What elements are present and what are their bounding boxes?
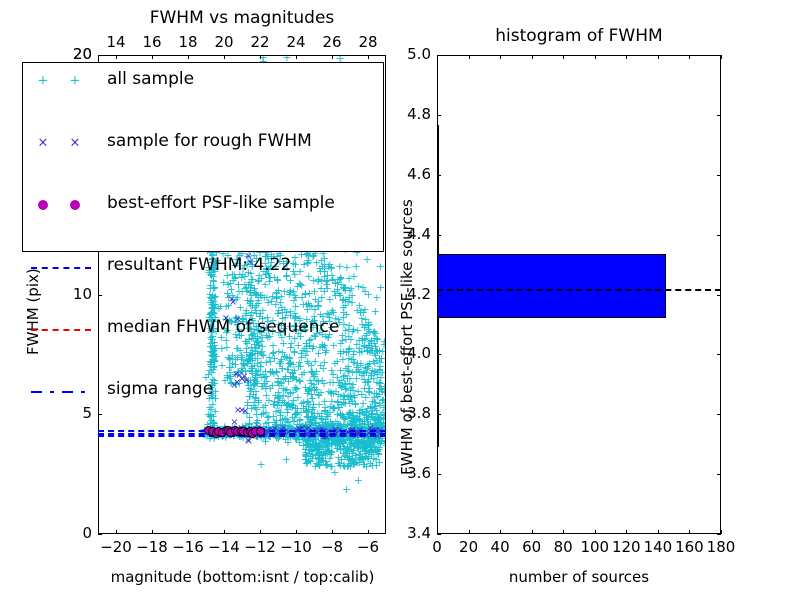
blue-dashdot-line-icon	[81, 391, 85, 393]
right-xtick-top	[595, 55, 596, 59]
left-xticklabel-top: 18	[172, 35, 204, 50]
right-xtick	[563, 530, 564, 534]
right-xticklabel: 140	[642, 540, 674, 555]
left-xtick-top	[116, 55, 117, 59]
left-xtick-bottom	[260, 530, 261, 534]
left-yticklabel: 10	[56, 287, 92, 302]
right-xtick	[721, 530, 722, 534]
left-xticklabel-bottom: −18	[136, 540, 168, 555]
left-ytick	[98, 55, 102, 56]
right-xtick-top	[532, 55, 533, 59]
right-ytick	[437, 235, 441, 236]
histogram-median-line	[437, 289, 721, 291]
right-xtick	[595, 530, 596, 534]
plus-marker-icon: +	[38, 74, 49, 87]
legend-label-4: median FHWM of sequence	[107, 317, 339, 337]
left-xtick-top	[152, 55, 153, 59]
right-xticklabel: 100	[579, 540, 611, 555]
legend: ++all sample××sample for rough FWHMbest-…	[22, 62, 384, 252]
plus-marker-icon: +	[70, 74, 81, 87]
legend-item-2[interactable]: best-effort PSF-like sample	[23, 189, 383, 220]
left-xtick-top	[188, 55, 189, 59]
right-xticklabel: 60	[516, 540, 548, 555]
right-ytick-right	[717, 55, 721, 56]
left-xtick-bottom	[188, 530, 189, 534]
left-xtick-bottom	[224, 530, 225, 534]
left-xtick-bottom	[368, 530, 369, 534]
legend-label-5: sigma range	[107, 379, 213, 399]
left-xtick-top	[296, 55, 297, 59]
legend-handle-plus: ++	[23, 65, 99, 96]
left-yticklabel: 5	[56, 406, 92, 421]
right-xtick-top	[500, 55, 501, 59]
left-xticklabel-top: 20	[208, 35, 240, 50]
legend-item-1[interactable]: ××sample for rough FWHM	[23, 127, 383, 158]
left-xticklabel-bottom: −14	[208, 540, 240, 555]
right-xticklabel: 0	[421, 540, 453, 555]
blue-dashed-line-icon	[31, 267, 91, 269]
left-xtick-top	[368, 55, 369, 59]
right-yticklabel: 4.0	[393, 346, 431, 361]
left-plot-title: FWHM vs magnitudes	[98, 8, 386, 28]
right-xtick	[500, 530, 501, 534]
legend-item-0[interactable]: ++all sample	[23, 65, 383, 96]
right-xtick-top	[626, 55, 627, 59]
right-ytick	[437, 354, 441, 355]
right-xtick-top	[469, 55, 470, 59]
right-xtick-top	[563, 55, 564, 59]
left-xticklabel-bottom: −6	[352, 540, 384, 555]
legend-item-3[interactable]: resultant FWHM: 4.22	[23, 251, 383, 282]
right-xticklabel: 180	[705, 540, 737, 555]
legend-label-3: resultant FWHM: 4.22	[107, 255, 291, 275]
left-xticklabel-bottom: −20	[100, 540, 132, 555]
left-xtick-bottom	[152, 530, 153, 534]
legend-label-1: sample for rough FWHM	[107, 131, 312, 151]
circle-marker-icon	[38, 200, 48, 210]
left-xtick-top	[260, 55, 261, 59]
right-ytick	[437, 534, 441, 535]
right-ytick-right	[717, 474, 721, 475]
figure-canvas: ++++++++++++++++++++++++++++++++++++++++…	[0, 0, 800, 600]
left-xticklabel-top: 24	[280, 35, 312, 50]
right-xticklabel: 40	[484, 540, 516, 555]
right-xtick	[658, 530, 659, 534]
left-xaxis-label: magnitude (bottom:isnt / top:calib)	[60, 568, 425, 586]
right-xticklabel: 80	[547, 540, 579, 555]
right-ytick-right	[717, 534, 721, 535]
right-xticklabel: 120	[610, 540, 642, 555]
right-xtick	[469, 530, 470, 534]
left-xtick-bottom	[332, 530, 333, 534]
right-ytick-right	[717, 414, 721, 415]
right-xtick-top	[658, 55, 659, 59]
right-ytick-right	[717, 115, 721, 116]
legend-label-0: all sample	[107, 69, 194, 89]
left-xticklabel-top: 14	[100, 35, 132, 50]
left-xticklabel-top: 28	[352, 35, 384, 50]
right-ytick	[437, 295, 441, 296]
right-axes-histogram	[437, 55, 721, 534]
legend-handle-blue-dash	[23, 251, 99, 282]
left-ytick	[98, 414, 102, 415]
blue-dashdot-line-icon	[31, 391, 42, 393]
right-ytick-right	[717, 354, 721, 355]
legend-handle-red-dash	[23, 313, 99, 344]
right-ytick	[437, 414, 441, 415]
right-yticklabel: 4.2	[393, 287, 431, 302]
left-yticklabel: 0	[56, 526, 92, 541]
left-xticklabel-top: 26	[316, 35, 348, 50]
red-dashed-line-icon	[31, 329, 91, 331]
cross-marker-icon: ×	[70, 136, 81, 149]
right-xtick-top	[689, 55, 690, 59]
right-ytick	[437, 115, 441, 116]
right-yticklabel: 4.6	[393, 167, 431, 182]
right-yticklabel: 3.8	[393, 406, 431, 421]
left-yticklabel-top: 20	[56, 47, 92, 62]
cross-marker-icon: ×	[38, 136, 49, 149]
right-xtick	[532, 530, 533, 534]
right-xticklabel: 20	[453, 540, 485, 555]
right-ytick	[437, 55, 441, 56]
right-xtick	[626, 530, 627, 534]
right-ytick	[437, 175, 441, 176]
legend-handle-cross: ××	[23, 127, 99, 158]
blue-dashdot-line-icon	[62, 391, 73, 393]
right-axes-frame	[437, 55, 721, 534]
left-xtick-bottom	[296, 530, 297, 534]
right-yticklabel: 3.4	[393, 526, 431, 541]
right-ytick-right	[717, 235, 721, 236]
legend-handle-circle	[23, 189, 99, 220]
left-xticklabel-bottom: −16	[172, 540, 204, 555]
legend-handle-blue-dashdot	[23, 375, 99, 406]
right-plot-title: histogram of FWHM	[437, 26, 721, 46]
blue-dashdot-line-icon	[50, 391, 54, 393]
left-xticklabel-top: 22	[244, 35, 276, 50]
legend-item-5[interactable]: sigma range	[23, 375, 383, 406]
right-ytick-right	[717, 175, 721, 176]
right-xtick-top	[721, 55, 722, 59]
left-ytick	[98, 295, 102, 296]
circle-marker-icon	[70, 200, 80, 210]
left-xticklabel-bottom: −10	[280, 540, 312, 555]
legend-label-2: best-effort PSF-like sample	[107, 193, 335, 213]
right-yticklabel: 4.4	[393, 227, 431, 242]
right-xtick	[689, 530, 690, 534]
right-yticklabel: 4.8	[393, 107, 431, 122]
legend-item-4[interactable]: median FHWM of sequence	[23, 313, 383, 344]
right-ytick-right	[717, 295, 721, 296]
right-xaxis-label: number of sources	[437, 568, 721, 586]
left-ytick	[98, 534, 102, 535]
right-yticklabel: 3.6	[393, 466, 431, 481]
right-yticklabel: 5.0	[393, 47, 431, 62]
left-xticklabel-bottom: −8	[316, 540, 348, 555]
left-xtick-top	[332, 55, 333, 59]
left-xticklabel-bottom: −12	[244, 540, 276, 555]
left-xticklabel-top: 16	[136, 35, 168, 50]
left-xtick-bottom	[116, 530, 117, 534]
left-xtick-top	[224, 55, 225, 59]
right-ytick	[437, 474, 441, 475]
right-xticklabel: 160	[673, 540, 705, 555]
